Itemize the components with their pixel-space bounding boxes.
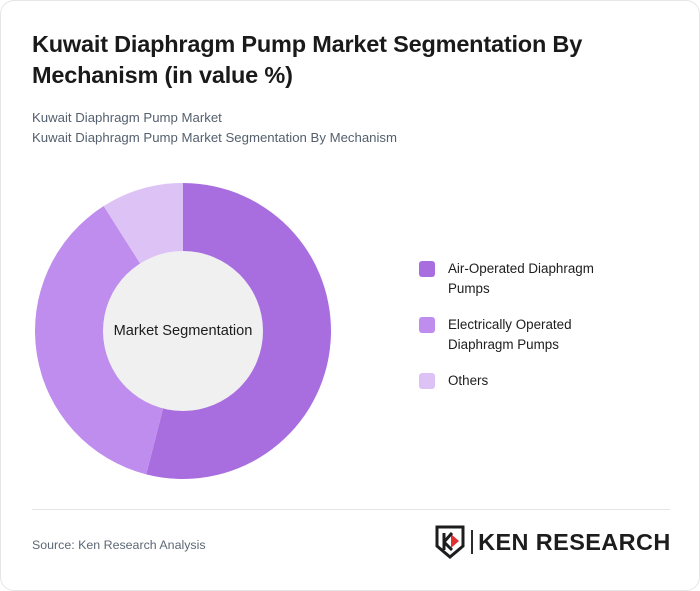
legend-swatch-icon (419, 261, 435, 277)
subtitle-primary: Kuwait Diaphragm Pump Market (32, 108, 642, 128)
donut-center-hole (103, 251, 263, 411)
legend-item[interactable]: Others (419, 371, 659, 391)
donut-svg (33, 181, 333, 481)
legend-item[interactable]: Air-Operated Diaphragm Pumps (419, 259, 659, 298)
subtitle-group: Kuwait Diaphragm Pump Market Kuwait Diap… (32, 108, 642, 149)
source-note: Source: Ken Research Analysis (32, 538, 206, 552)
legend-item-label: Electrically Operated Diaphragm Pumps (448, 315, 638, 354)
legend-item-label: Others (448, 371, 488, 391)
chart-header: Kuwait Diaphragm Pump Market Segmentatio… (32, 29, 642, 149)
page-title: Kuwait Diaphragm Pump Market Segmentatio… (32, 29, 642, 91)
chart-card: Kuwait Diaphragm Pump Market Segmentatio… (0, 0, 700, 591)
logo-wordmark: KEN RESEARCH (478, 529, 671, 556)
chart-area: Market Segmentation Air-Operated Diaphra… (1, 171, 700, 491)
legend-swatch-icon (419, 317, 435, 333)
legend-swatch-icon (419, 373, 435, 389)
ken-research-shield-icon (435, 525, 465, 559)
logo-separator (471, 530, 473, 554)
donut-chart: Market Segmentation (33, 181, 333, 481)
subtitle-secondary: Kuwait Diaphragm Pump Market Segmentatio… (32, 128, 642, 148)
legend-item-label: Air-Operated Diaphragm Pumps (448, 259, 638, 298)
legend-item[interactable]: Electrically Operated Diaphragm Pumps (419, 315, 659, 354)
footer-divider (32, 509, 670, 510)
chart-legend: Air-Operated Diaphragm Pumps Electricall… (419, 259, 659, 391)
brand-logo: KEN RESEARCH (435, 524, 669, 560)
